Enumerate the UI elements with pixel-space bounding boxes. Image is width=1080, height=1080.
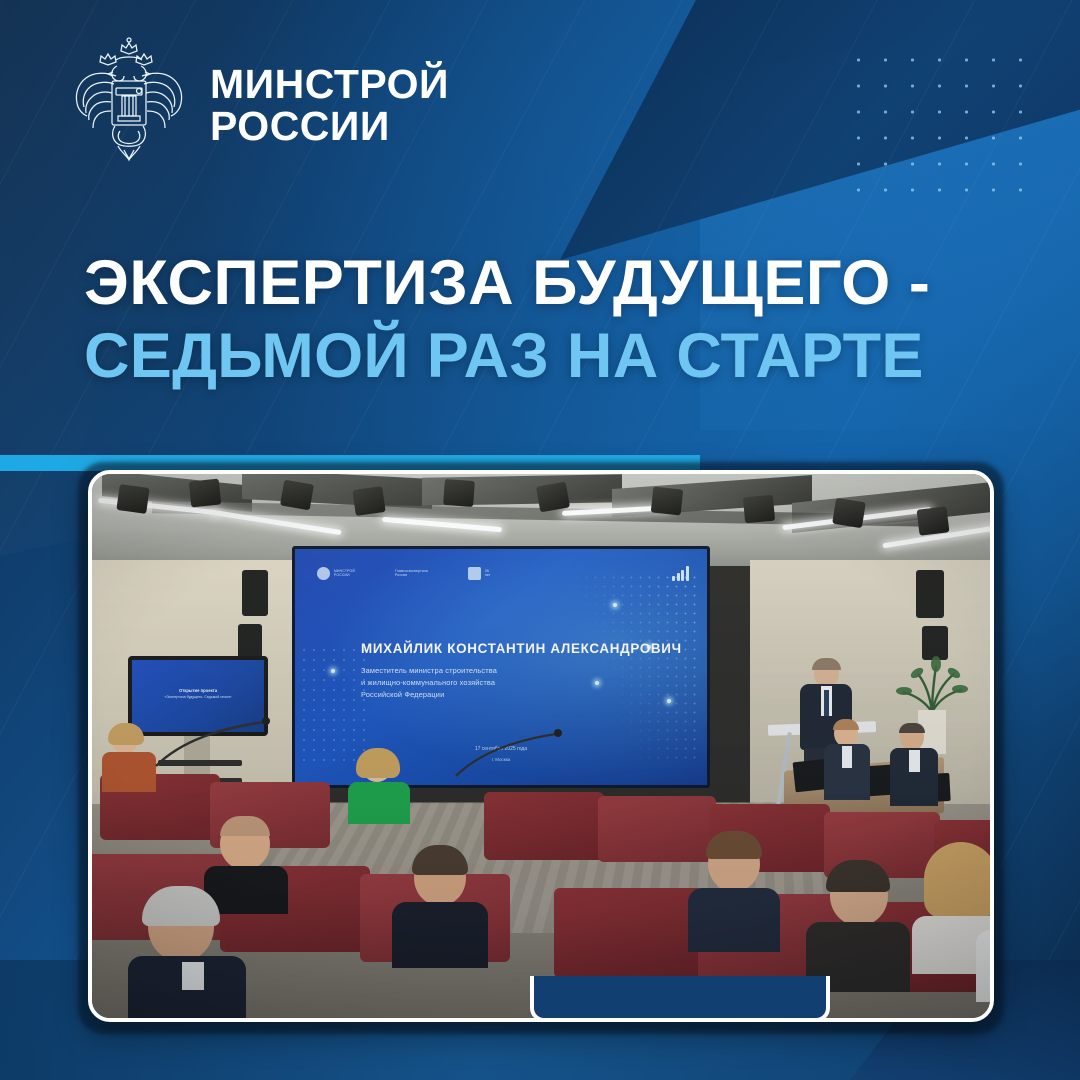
brand-line-2: РОССИИ — [210, 106, 449, 148]
background-dot-grid — [845, 47, 1025, 207]
title-line-2: СЕДЬМОЙ РАЗ НА СТАРТЕ — [84, 323, 1004, 390]
conference-hall-photo: МИНСТРОЙ РОССИИ Главгосэкспертиза России — [88, 470, 994, 1022]
russian-double-headed-eagle-emblem-icon — [70, 36, 188, 176]
brand-line-1: МИНСТРОЙ — [210, 64, 449, 106]
title-line-1: ЭКСПЕРТИЗА БУДУЩЕГО - — [84, 250, 1004, 317]
brand-lockup: МИНСТРОЙ РОССИИ — [70, 36, 449, 176]
photo-bottom-notch — [530, 976, 830, 1022]
social-card: МИНСТРОЙ РОССИИ ЭКСПЕРТИЗА БУДУЩЕГО - СЕ… — [0, 0, 1080, 1080]
brand-name: МИНСТРОЙ РОССИИ — [210, 64, 449, 148]
page-title: ЭКСПЕРТИЗА БУДУЩЕГО - СЕДЬМОЙ РАЗ НА СТА… — [84, 250, 1004, 390]
